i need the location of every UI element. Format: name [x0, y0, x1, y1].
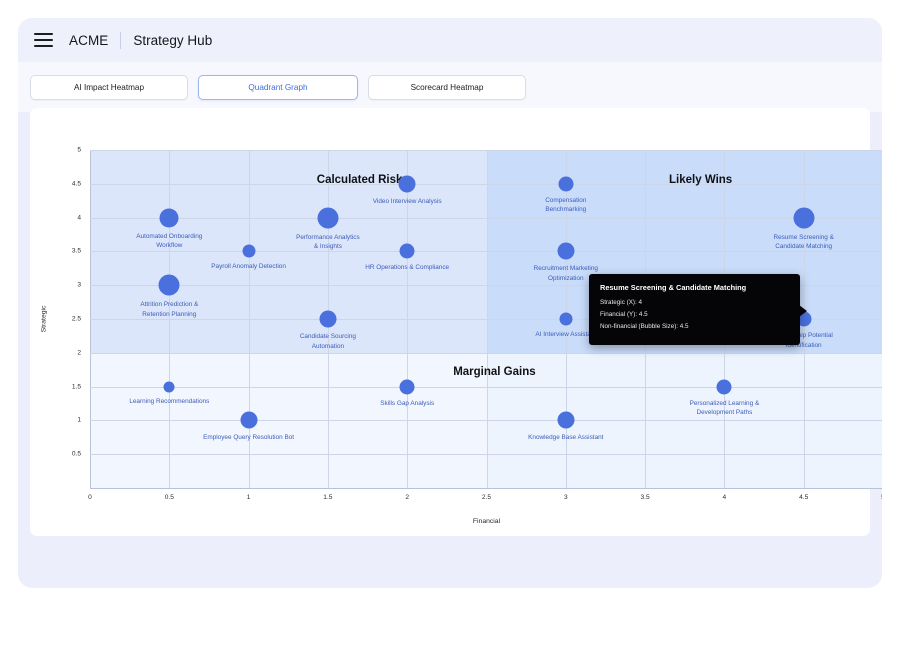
- x-axis-tick: 2: [405, 494, 409, 501]
- top-bar: ACME Strategy Hub: [18, 18, 882, 62]
- gridline-horizontal: [90, 387, 882, 388]
- quadrant-label: Calculated Risks: [317, 174, 409, 186]
- x-axis-tick: 2.5: [482, 494, 491, 501]
- gridline-horizontal: [90, 184, 882, 185]
- gridline-horizontal: [90, 251, 882, 252]
- bubble-point[interactable]: [400, 379, 415, 394]
- tooltip-row-financial: Financial (Y): 4.5: [600, 311, 789, 318]
- app-window: ACME Strategy Hub AI Impact HeatmapQuadr…: [18, 18, 882, 588]
- quadrant-graph: 00.511.522.533.544.550.511.522.533.544.5…: [30, 108, 870, 536]
- x-axis-tick: 1.5: [323, 494, 332, 501]
- tab-scorecard-heatmap[interactable]: Scorecard Heatmap: [368, 75, 526, 100]
- brand-label: ACME: [69, 33, 108, 48]
- bubble-point[interactable]: [240, 412, 257, 429]
- y-axis-tick: 5: [77, 147, 81, 154]
- y-axis-tick: 2.5: [72, 316, 81, 323]
- tooltip-arrow: [799, 305, 807, 317]
- tooltip-row-strategic: Strategic (X): 4: [600, 299, 789, 306]
- y-axis-tick: 1.5: [72, 383, 81, 390]
- bubble-point[interactable]: [242, 245, 255, 258]
- x-axis-tick: 4.5: [799, 494, 808, 501]
- gridline-horizontal: [90, 353, 882, 354]
- gridline-horizontal: [90, 218, 882, 219]
- gridline-horizontal: [90, 454, 882, 455]
- y-axis-tick: 1: [77, 417, 81, 424]
- bubble-point[interactable]: [160, 208, 179, 227]
- tab-quadrant-graph[interactable]: Quadrant Graph: [198, 75, 358, 100]
- bubble-tooltip: Resume Screening & Candidate Matching St…: [589, 274, 800, 345]
- tab-label: Scorecard Heatmap: [411, 83, 484, 92]
- bubble-point[interactable]: [159, 275, 180, 296]
- chart-card: 00.511.522.533.544.550.511.522.533.544.5…: [30, 108, 870, 536]
- bubble-point[interactable]: [793, 207, 814, 228]
- bubble-point[interactable]: [717, 379, 732, 394]
- quadrant-label: Likely Wins: [669, 174, 732, 186]
- x-axis-tick: 5: [881, 494, 882, 501]
- y-axis-tick: 0.5: [72, 451, 81, 458]
- brand-divider: [120, 32, 121, 49]
- y-axis-tick: 4.5: [72, 180, 81, 187]
- tooltip-title: Resume Screening & Candidate Matching: [600, 283, 789, 292]
- bubble-point[interactable]: [558, 176, 573, 191]
- y-axis-tick: 3: [77, 282, 81, 289]
- y-axis-tick: 4: [77, 214, 81, 221]
- y-axis-label: Strategic: [41, 306, 48, 333]
- bubble-point[interactable]: [164, 381, 175, 392]
- x-axis-label: Financial: [473, 518, 500, 525]
- tooltip-row-nonfinancial: Non-financial (Bubble Size): 4.5: [600, 323, 789, 330]
- gridline-horizontal: [90, 150, 882, 151]
- quadrant-label: Marginal Gains: [453, 366, 535, 378]
- x-axis-tick: 3.5: [641, 494, 650, 501]
- x-axis-tick: 1: [247, 494, 251, 501]
- x-axis-tick: 4: [723, 494, 727, 501]
- y-axis-tick: 3.5: [72, 248, 81, 255]
- y-axis-tick: 2: [77, 349, 81, 356]
- page-title: Strategy Hub: [133, 33, 212, 48]
- bubble-point[interactable]: [399, 175, 416, 192]
- gridline-horizontal: [90, 488, 882, 489]
- bubble-point[interactable]: [317, 207, 338, 228]
- tab-ai-impact-heatmap[interactable]: AI Impact Heatmap: [30, 75, 188, 100]
- tab-label: Quadrant Graph: [248, 83, 307, 92]
- tab-label: AI Impact Heatmap: [74, 83, 144, 92]
- bubble-point[interactable]: [557, 243, 574, 260]
- bubble-point[interactable]: [400, 244, 415, 259]
- bubble-point[interactable]: [557, 412, 574, 429]
- gridline-horizontal: [90, 420, 882, 421]
- bubble-point[interactable]: [559, 313, 572, 326]
- tab-strip: AI Impact HeatmapQuadrant GraphScorecard…: [18, 62, 882, 112]
- bubble-point[interactable]: [319, 311, 336, 328]
- hamburger-icon[interactable]: [34, 33, 53, 47]
- x-axis-tick: 0: [88, 494, 92, 501]
- x-axis-tick: 3: [564, 494, 568, 501]
- x-axis-tick: 0.5: [165, 494, 174, 501]
